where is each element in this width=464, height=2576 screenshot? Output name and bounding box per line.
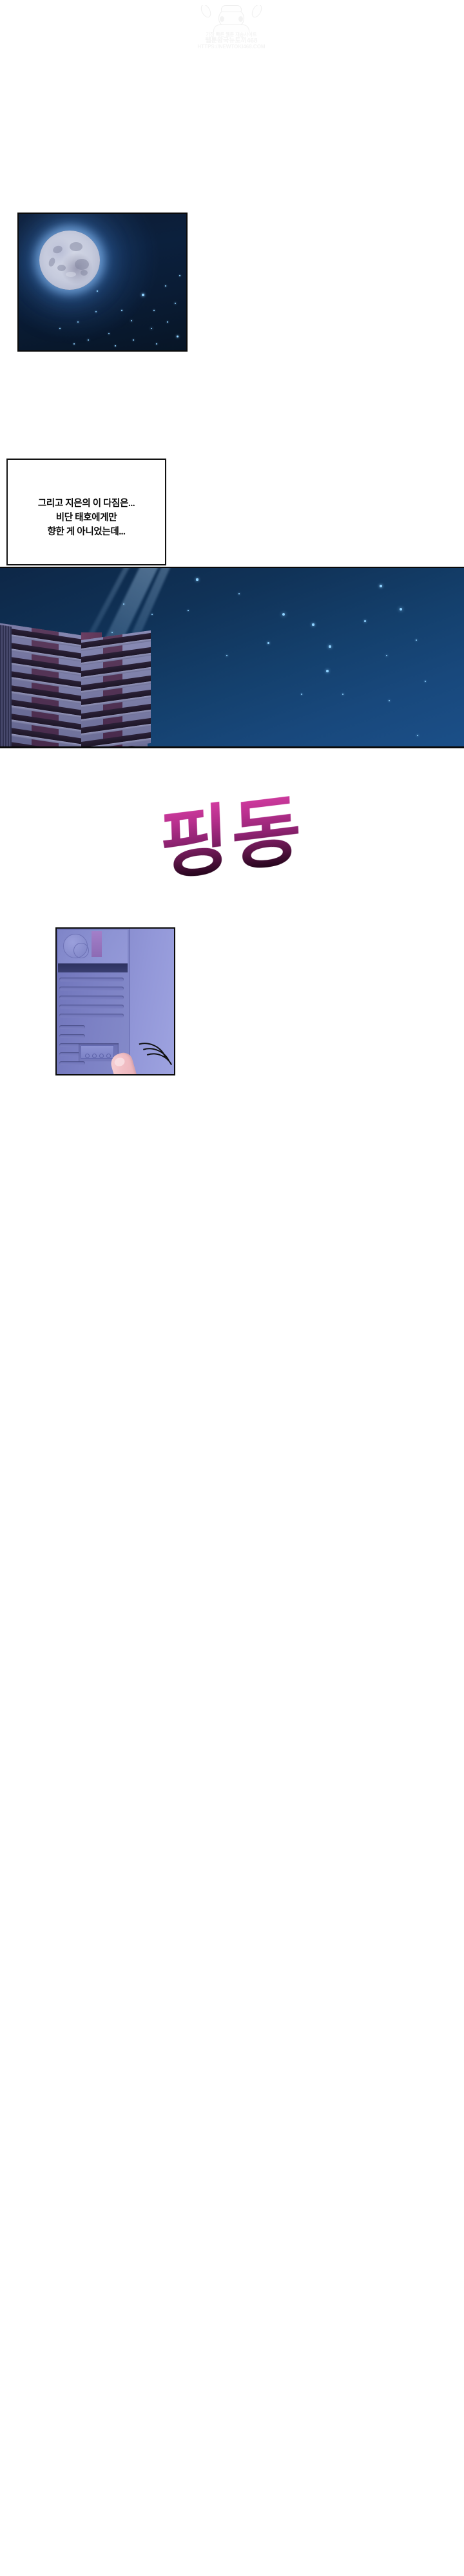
- star: [417, 735, 419, 737]
- intercom-shadow-band: [58, 963, 128, 972]
- star: [238, 593, 240, 595]
- mascot-hat-icon: [221, 5, 242, 12]
- star: [151, 328, 153, 330]
- star: [133, 339, 134, 341]
- moon-crater: [48, 257, 56, 267]
- star: [167, 321, 168, 323]
- star: [97, 290, 98, 292]
- full-moon: [39, 231, 100, 290]
- speaker-slot: [59, 987, 124, 990]
- building-louver-vent: [0, 625, 12, 748]
- star: [425, 681, 426, 682]
- star: [115, 345, 116, 346]
- mascot-eye-right-icon: [238, 16, 243, 22]
- narration-line-3: 향한 게 아니었는데...: [8, 525, 165, 539]
- mascot-eye-left-icon: [220, 16, 224, 22]
- star: [196, 578, 198, 580]
- star: [156, 343, 157, 345]
- star: [326, 670, 329, 672]
- moon-crater: [75, 259, 89, 270]
- button-hole-icon: [106, 1054, 111, 1058]
- intercom-camera-area: [58, 930, 128, 963]
- star: [400, 608, 402, 611]
- narration-text: 그리고 지은의 이 다짐은... 비단 태호에게만 향한 게 아니었는데...: [8, 485, 165, 539]
- fingernail: [113, 1057, 126, 1068]
- moon-crater: [66, 272, 76, 277]
- star: [165, 285, 166, 287]
- narration-textbox: 그리고 지은의 이 다짐은... 비단 태호에게만 향한 게 아니었는데...: [6, 459, 166, 565]
- star: [312, 623, 314, 625]
- sfx-doorbell-text: 핑동: [159, 791, 305, 885]
- watermark-url: HTTPS://NEWTOKI468.COM: [182, 44, 280, 50]
- star: [88, 339, 90, 341]
- sound-effect-layer: 핑동: [0, 800, 464, 909]
- button-hole-icon: [92, 1054, 97, 1058]
- speaker-slot: [59, 996, 124, 999]
- moon-crater: [57, 265, 66, 271]
- star: [151, 614, 153, 615]
- star: [329, 645, 331, 648]
- speaker-slot: [59, 1014, 124, 1018]
- star: [226, 655, 227, 656]
- star: [301, 694, 302, 695]
- star: [389, 700, 390, 701]
- star: [188, 610, 189, 611]
- webtoon-page: 가장 빠른 웹툰 재송사이트 웹툰왕국뉴토끼468 HTTPS://NEWTOK…: [0, 0, 464, 2576]
- intercom-panel: [55, 927, 175, 1075]
- camera-lens-inner-icon: [73, 943, 89, 958]
- button-hole-icon: [85, 1054, 90, 1058]
- star: [342, 694, 344, 696]
- star: [108, 333, 110, 334]
- star: [179, 275, 180, 276]
- moon-panel: [17, 213, 188, 352]
- star: [267, 642, 269, 644]
- star: [95, 311, 97, 312]
- star: [131, 320, 133, 322]
- star: [416, 639, 418, 641]
- moon-crater: [70, 242, 82, 251]
- camera-lens-icon: [63, 934, 88, 958]
- apartment-building-right-face: [81, 630, 151, 748]
- city-night-panel: [0, 567, 464, 748]
- mascot-ear-left-icon: [199, 5, 213, 19]
- star: [59, 328, 61, 329]
- narration-line-1: 그리고 지은의 이 다짐은...: [8, 497, 165, 511]
- star: [121, 310, 122, 311]
- star: [364, 620, 366, 622]
- speaker-slot: [59, 1034, 85, 1038]
- moon-crater: [52, 245, 63, 254]
- doorbell-button[interactable]: [81, 1045, 114, 1059]
- star: [153, 310, 155, 311]
- star: [142, 294, 144, 296]
- star: [282, 613, 285, 616]
- speaker-slot: [59, 1025, 85, 1029]
- button-hole-icon: [99, 1054, 104, 1058]
- mascot-body-icon: [213, 24, 249, 32]
- speaker-slot: [59, 1061, 85, 1065]
- mascot-ear-right-icon: [250, 5, 264, 19]
- watermark-tagline: 가장 빠른 웹툰 재송사이트: [182, 32, 280, 37]
- rabbit-mascot-icon: [182, 5, 280, 32]
- star: [177, 336, 179, 337]
- intercom-indicator-strip: [92, 931, 102, 957]
- star: [175, 303, 176, 304]
- speaker-slot: [59, 1005, 124, 1009]
- watermark-sitename: 웹툰왕국뉴토끼468: [182, 37, 280, 44]
- site-watermark: 가장 빠른 웹툰 재송사이트 웹툰왕국뉴토끼468 HTTPS://NEWTOK…: [182, 5, 280, 57]
- moon-crater: [81, 270, 88, 276]
- star: [386, 655, 388, 657]
- star: [380, 585, 382, 587]
- speaker-slot: [59, 978, 124, 981]
- intercom-front-plate: [57, 929, 130, 1074]
- narration-line-2: 비단 태호에게만: [8, 511, 165, 525]
- mascot-head-icon: [218, 8, 244, 28]
- star: [77, 321, 79, 323]
- star: [73, 343, 75, 345]
